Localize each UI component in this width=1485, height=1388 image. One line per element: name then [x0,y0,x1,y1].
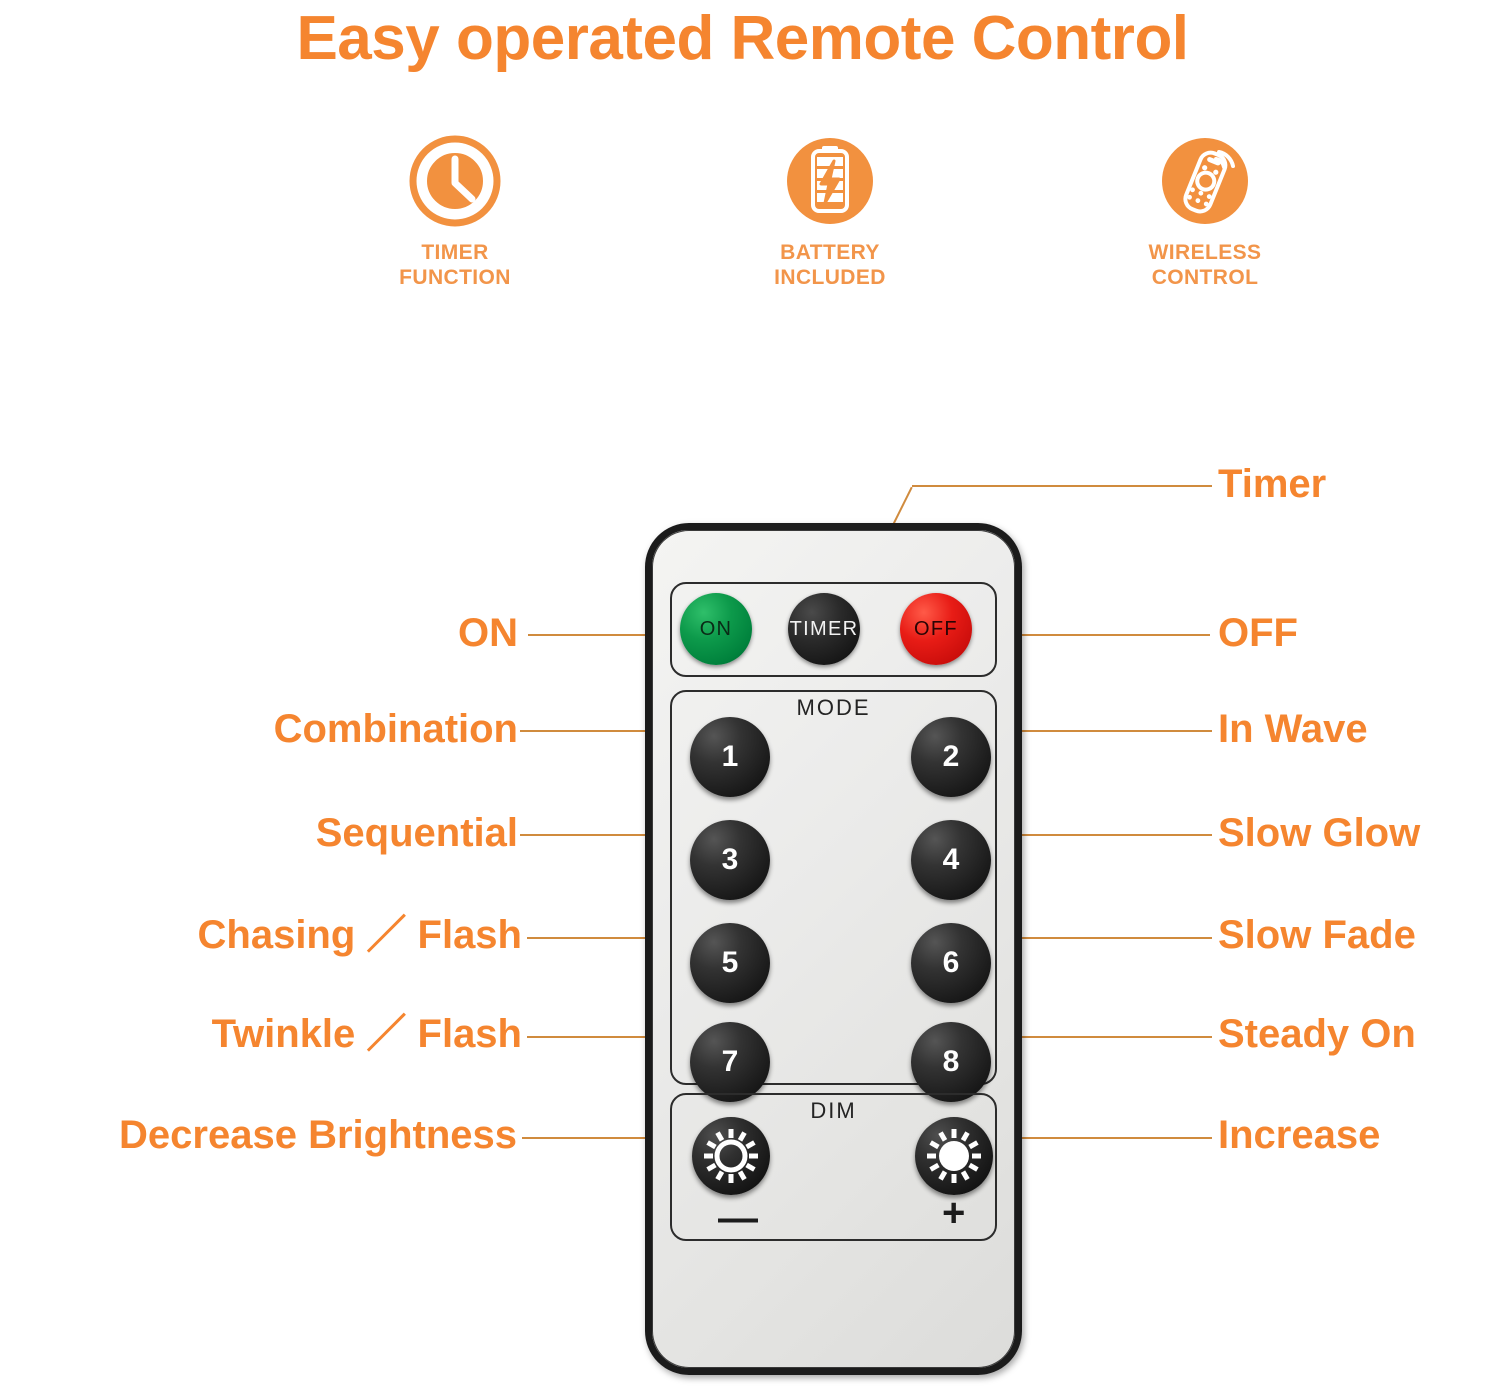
mode-panel: MODE 1 2 3 4 5 6 7 8 [670,690,997,1085]
callout-label-chasing-flash: Chasing ／ Flash [12,912,522,958]
mode-button-5-label: 5 [722,946,739,980]
callout-label-timer: Timer [1218,461,1326,507]
off-button-label: OFF [914,618,958,641]
mode-button-3[interactable]: 3 [690,820,770,900]
callout-label-twinkle-flash: Twinkle ／ Flash [12,1011,522,1057]
remote-signal-icon [1159,135,1251,227]
callout-line-timer [912,485,1212,487]
page-title: Easy operated Remote Control [0,2,1485,76]
battery-bolt-icon [784,135,876,227]
dim-decrease-button[interactable] [692,1117,770,1195]
feature-timer-label: TIMER FUNCTION [330,240,580,290]
dim-minus-symbol: — [718,1198,758,1238]
feature-wireless-label: WIRELESS CONTROL [1080,240,1330,290]
sun-solid-icon [915,1117,993,1195]
mode-button-7[interactable]: 7 [690,1022,770,1102]
clock-icon [409,135,501,227]
sun-ring-icon [692,1117,770,1195]
callout-label-decrease-brightness: Decrease Brightness [2,1112,517,1158]
feature-badges: TIMER FUNCTION BATTERY INCLUDED [330,135,1330,320]
mode-button-6-label: 6 [943,946,960,980]
callout-label-slow-fade: Slow Fade [1218,912,1416,958]
feature-timer-line2: FUNCTION [399,266,511,289]
on-button-label: ON [700,618,733,641]
dim-increase-button[interactable] [915,1117,993,1195]
feature-battery-line1: BATTERY [780,241,880,264]
feature-battery: BATTERY INCLUDED [705,135,955,290]
mode-button-8[interactable]: 8 [911,1022,991,1102]
callout-label-increase: Increase [1218,1112,1380,1158]
mode-button-2[interactable]: 2 [911,717,991,797]
mode-button-2-label: 2 [943,740,960,774]
mode-button-4[interactable]: 4 [911,820,991,900]
mode-button-5[interactable]: 5 [690,923,770,1003]
feature-battery-label: BATTERY INCLUDED [705,240,955,290]
mode-button-1-label: 1 [722,740,739,774]
mode-button-6[interactable]: 6 [911,923,991,1003]
feature-timer-line1: TIMER [421,241,488,264]
callout-label-sequential: Sequential [18,810,518,856]
power-panel: ON TIMER OFF [670,582,997,677]
infographic-canvas: Easy operated Remote Control TIMER FUNCT… [0,0,1485,1388]
callout-label-in-wave: In Wave [1218,706,1368,752]
timer-button-label: TIMER [790,618,859,641]
callout-label-steady-on: Steady On [1218,1011,1416,1057]
feature-wireless: WIRELESS CONTROL [1080,135,1330,290]
callout-label-slow-glow: Slow Glow [1218,810,1420,856]
dim-plus-symbol: + [942,1193,965,1233]
timer-button[interactable]: TIMER [788,593,860,665]
mode-button-4-label: 4 [943,843,960,877]
callout-label-on: ON [18,610,518,656]
feature-battery-line2: INCLUDED [774,266,886,289]
remote-control-device: ON TIMER OFF MODE 1 2 3 4 5 6 [645,523,1022,1375]
mode-button-3-label: 3 [722,843,739,877]
on-button[interactable]: ON [680,593,752,665]
mode-button-1[interactable]: 1 [690,717,770,797]
dim-panel: DIM [670,1093,997,1241]
mode-button-8-label: 8 [943,1045,960,1079]
callout-label-combination: Combination [18,706,518,752]
feature-wireless-line1: WIRELESS [1149,241,1262,264]
off-button[interactable]: OFF [900,593,972,665]
callout-label-off: OFF [1218,610,1298,656]
feature-timer: TIMER FUNCTION [330,135,580,290]
feature-wireless-line2: CONTROL [1152,266,1259,289]
mode-button-7-label: 7 [722,1045,739,1079]
